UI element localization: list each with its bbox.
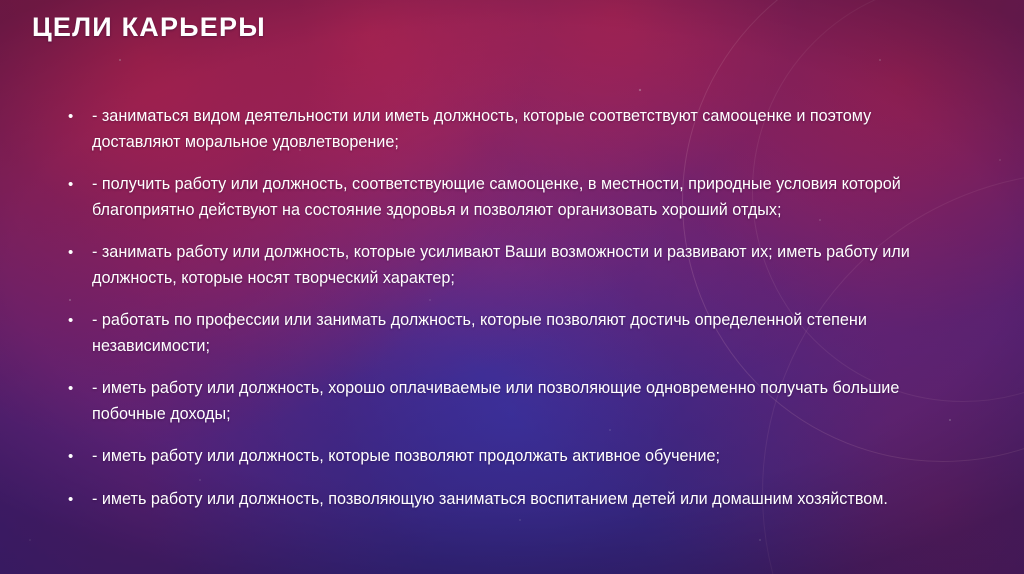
bullet-point-icon: • [62, 104, 92, 129]
list-item-text: - иметь работу или должность, позволяющу… [92, 487, 942, 513]
list-item: • - иметь работу или должность, хорошо о… [62, 376, 942, 427]
list-item-text: - иметь работу или должность, которые по… [92, 444, 942, 470]
list-item: • - занимать работу или должность, котор… [62, 240, 942, 291]
list-item-text: - иметь работу или должность, хорошо опл… [92, 376, 942, 427]
page-title: ЦЕЛИ КАРЬЕРЫ [32, 12, 266, 43]
bullet-list: • - заниматься видом деятельности или им… [62, 104, 942, 512]
bullet-point-icon: • [62, 376, 92, 401]
list-item: • - иметь работу или должность, позволяю… [62, 487, 942, 513]
list-item-text: - работать по профессии или занимать дол… [92, 308, 942, 359]
bullet-point-icon: • [62, 487, 92, 512]
bullet-point-icon: • [62, 444, 92, 469]
list-item: • - получить работу или должность, соотв… [62, 172, 942, 223]
bullet-point-icon: • [62, 172, 92, 197]
slide-content: ЦЕЛИ КАРЬЕРЫ • - заниматься видом деятел… [0, 0, 1024, 574]
list-item: • - работать по профессии или занимать д… [62, 308, 942, 359]
bullet-point-icon: • [62, 240, 92, 265]
bullet-point-icon: • [62, 308, 92, 333]
list-item-text: - занимать работу или должность, которые… [92, 240, 942, 291]
presentation-slide: ЦЕЛИ КАРЬЕРЫ • - заниматься видом деятел… [0, 0, 1024, 574]
list-item: • - иметь работу или должность, которые … [62, 444, 942, 470]
list-item-text: - получить работу или должность, соответ… [92, 172, 942, 223]
list-item: • - заниматься видом деятельности или им… [62, 104, 942, 155]
list-item-text: - заниматься видом деятельности или имет… [92, 104, 942, 155]
